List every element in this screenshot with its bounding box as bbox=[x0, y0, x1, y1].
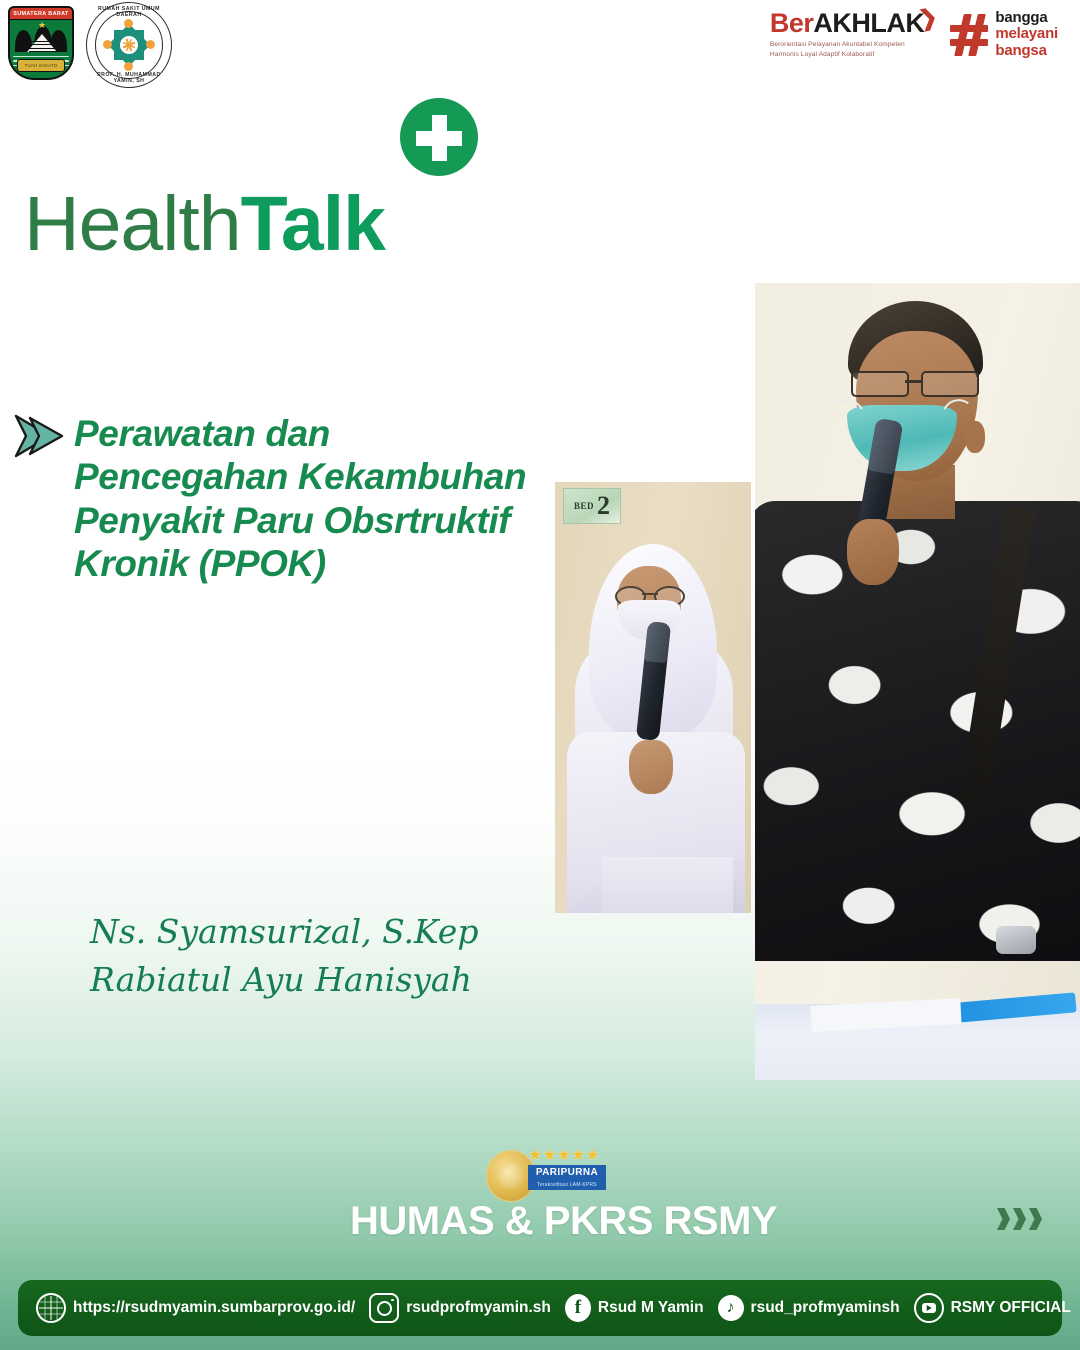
hashtag-icon bbox=[950, 14, 988, 56]
speaker-name-2: Rabiatul Ayu Hanisyah bbox=[90, 956, 530, 1004]
double-chevron-arrow-icon bbox=[10, 410, 68, 462]
berakhlak-wordmark: BerAKHLAK bbox=[770, 10, 925, 37]
berakhlak-logo: BerAKHLAK ❯ Berorientasi Pelayanan Akunt… bbox=[770, 10, 925, 59]
institution-logos: SUMATERA BARAT ★ TUAH SAKATO RUMAH SAKIT… bbox=[8, 6, 172, 88]
page-title: Perawatan dan Pencegahan Kekambuhan Peny… bbox=[74, 412, 544, 585]
speaker-name-1: Ns. Syamsurizal, S.Kep bbox=[90, 908, 530, 956]
humas-pkrs-label: HUMAS & PKRS RSMY bbox=[350, 1199, 777, 1244]
triple-chevron-icon bbox=[997, 1208, 1042, 1230]
berakhlak-suffix: AKHLAK bbox=[813, 8, 924, 38]
sumatera-barat-emblem-icon: SUMATERA BARAT ★ TUAH SAKATO bbox=[8, 6, 74, 80]
emblem-band-label: SUMATERA BARAT bbox=[10, 8, 72, 20]
tiktok-handle-label: rsud_profmyaminsh bbox=[751, 1299, 900, 1317]
youtube-icon bbox=[914, 1293, 944, 1323]
speaker-list: Ns. Syamsurizal, S.Kep Rabiatul Ayu Hani… bbox=[90, 908, 530, 1004]
footer-item-tiktok[interactable]: ♪ rsud_profmyaminsh bbox=[718, 1295, 900, 1321]
brand-word-talk: Talk bbox=[241, 181, 385, 267]
globe-icon bbox=[36, 1293, 66, 1323]
berakhlak-prefix: Ber bbox=[770, 8, 814, 38]
bangga-line2: melayani bbox=[995, 26, 1058, 42]
berakhlak-subtitle-line2: Harmonis Loyal Adaptif Kolaboratif bbox=[770, 50, 925, 60]
emblem-house-lines bbox=[29, 41, 57, 55]
seal-text-top: RUMAH SAKIT UMUM DAERAH bbox=[86, 6, 172, 18]
instagram-icon bbox=[369, 1293, 399, 1323]
instagram-handle-label: rsudprofmyamin.sh bbox=[406, 1299, 551, 1317]
bed-sign-woman: BED 2 bbox=[563, 488, 621, 524]
accreditation-stars-icon: ★★★★★ bbox=[528, 1148, 606, 1165]
rsud-seal-icon: RUMAH SAKIT UMUM DAERAH PROF. H. MUHAMMA… bbox=[86, 2, 172, 88]
paripurna-accreditation-badge: ★★★★★ PARIPURNA Terakreditasi LAM-KPRS bbox=[486, 1148, 604, 1202]
accreditation-title: PARIPURNA bbox=[528, 1165, 606, 1180]
footer-item-website[interactable]: https://rsudmyamin.sumbarprov.go.id/ bbox=[36, 1293, 355, 1323]
emblem-scroll-label: TUAH SAKATO bbox=[17, 59, 65, 72]
medical-cross-icon bbox=[400, 98, 478, 176]
footer-item-youtube[interactable]: RSMY OFFICIAL bbox=[914, 1293, 1071, 1323]
facebook-handle-label: Rsud M Yamin bbox=[598, 1299, 704, 1317]
poster-canvas: SUMATERA BARAT ★ TUAH SAKATO RUMAH SAKIT… bbox=[0, 0, 1080, 1350]
accreditation-subtitle: Terakreditasi LAM-KPRS bbox=[528, 1180, 606, 1190]
berakhlak-subtitle-line1: Berorientasi Pelayanan Akuntabel Kompete… bbox=[770, 40, 925, 50]
bangga-line3: bangsa bbox=[995, 43, 1058, 59]
bed-sign-label: BED bbox=[574, 501, 594, 511]
seal-text-bottom: PROF. H. MUHAMMAD YAMIN, SH bbox=[86, 72, 172, 84]
photo-man-speaking: BED bbox=[755, 283, 1080, 1080]
humas-band: ★★★★★ PARIPURNA Terakreditasi LAM-KPRS H… bbox=[0, 1144, 1080, 1254]
facebook-icon: f bbox=[565, 1294, 591, 1322]
photo-nurse-speaking: BED 2 bbox=[555, 482, 751, 913]
bangga-melayani-bangsa-logo: bangga melayani bangsa bbox=[950, 10, 1058, 59]
health-talk-wordmark: HealthTalk bbox=[24, 186, 385, 263]
emblem-star-icon: ★ bbox=[38, 21, 46, 30]
social-footer-bar: https://rsudmyamin.sumbarprov.go.id/ rsu… bbox=[18, 1280, 1062, 1336]
website-url-label: https://rsudmyamin.sumbarprov.go.id/ bbox=[73, 1299, 355, 1317]
footer-item-instagram[interactable]: rsudprofmyamin.sh bbox=[369, 1293, 551, 1323]
campaign-logos: BerAKHLAK ❯ Berorientasi Pelayanan Akunt… bbox=[770, 10, 1058, 59]
tiktok-icon: ♪ bbox=[718, 1295, 744, 1321]
youtube-channel-label: RSMY OFFICIAL bbox=[951, 1299, 1071, 1317]
bangga-line1: bangga bbox=[995, 10, 1058, 26]
footer-item-facebook[interactable]: f Rsud M Yamin bbox=[565, 1294, 704, 1322]
brand-word-health: Health bbox=[24, 181, 241, 267]
bed-sign-number: 2 bbox=[597, 493, 610, 519]
glasses-icon-man bbox=[843, 371, 983, 393]
